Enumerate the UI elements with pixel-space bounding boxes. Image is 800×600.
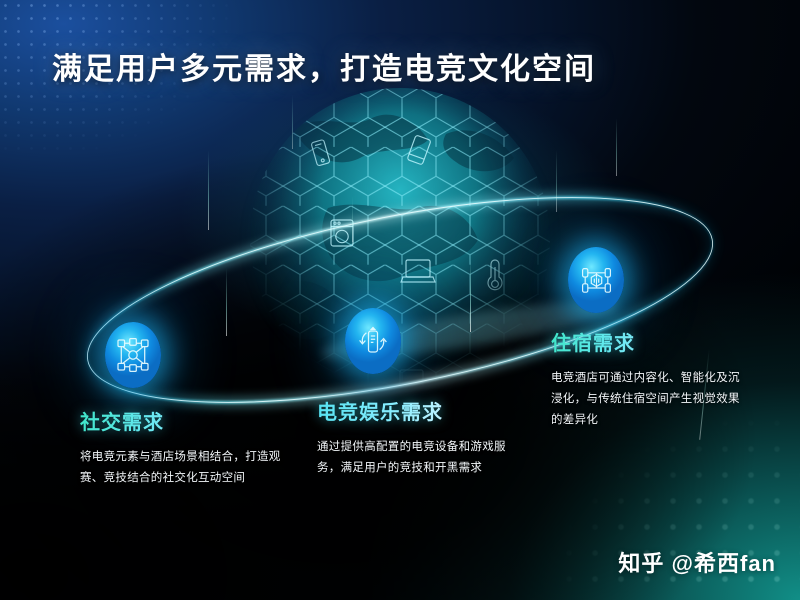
light-streak (470, 258, 471, 332)
block-esports: 电竞娱乐需求 通过提供高配置的电竞设备和游戏服务，满足用户的竞技和开黑需求 (317, 396, 509, 479)
page-title: 满足用户多元需求，打造电竞文化空间 (52, 44, 596, 88)
block-esports-body: 通过提供高配置的电竞设备和游戏服务，满足用户的竞技和开黑需求 (317, 437, 509, 479)
block-lodging: 住宿需求 电竞酒店可通过内容化、智能化及沉浸化，与传统住宿空间产生视觉效果的差异… (551, 327, 749, 431)
light-streak (352, 196, 353, 242)
light-streak (208, 150, 209, 230)
watermark: 知乎 @希西fan (618, 546, 776, 578)
block-lodging-heading: 住宿需求 (551, 327, 749, 356)
node-lodging[interactable] (568, 247, 624, 313)
device-refresh-icon[interactable] (345, 308, 401, 374)
light-streak (292, 95, 293, 149)
block-lodging-body: 电竞酒店可通过内容化、智能化及沉浸化，与传统住宿空间产生视觉效果的差异化 (551, 368, 749, 431)
node-esports[interactable] (345, 308, 401, 374)
block-social: 社交需求 将电竞元素与酒店场景相结合，打造观赛、竞技结合的社交化互动空间 (80, 406, 295, 489)
node-social[interactable] (105, 322, 161, 388)
block-social-body: 将电竞元素与酒店场景相结合，打造观赛、竞技结合的社交化互动空间 (80, 447, 295, 489)
smart-room-icon[interactable] (568, 247, 624, 313)
light-streak (226, 268, 227, 336)
slide-canvas: 满足用户多元需求，打造电竞文化空间 (0, 0, 800, 600)
light-streak (616, 118, 617, 176)
appliance-icon (288, 366, 307, 390)
social-network-icon[interactable] (105, 322, 161, 388)
block-social-heading: 社交需求 (80, 406, 295, 435)
block-esports-heading: 电竞娱乐需求 (317, 396, 509, 425)
light-streak (556, 150, 557, 212)
